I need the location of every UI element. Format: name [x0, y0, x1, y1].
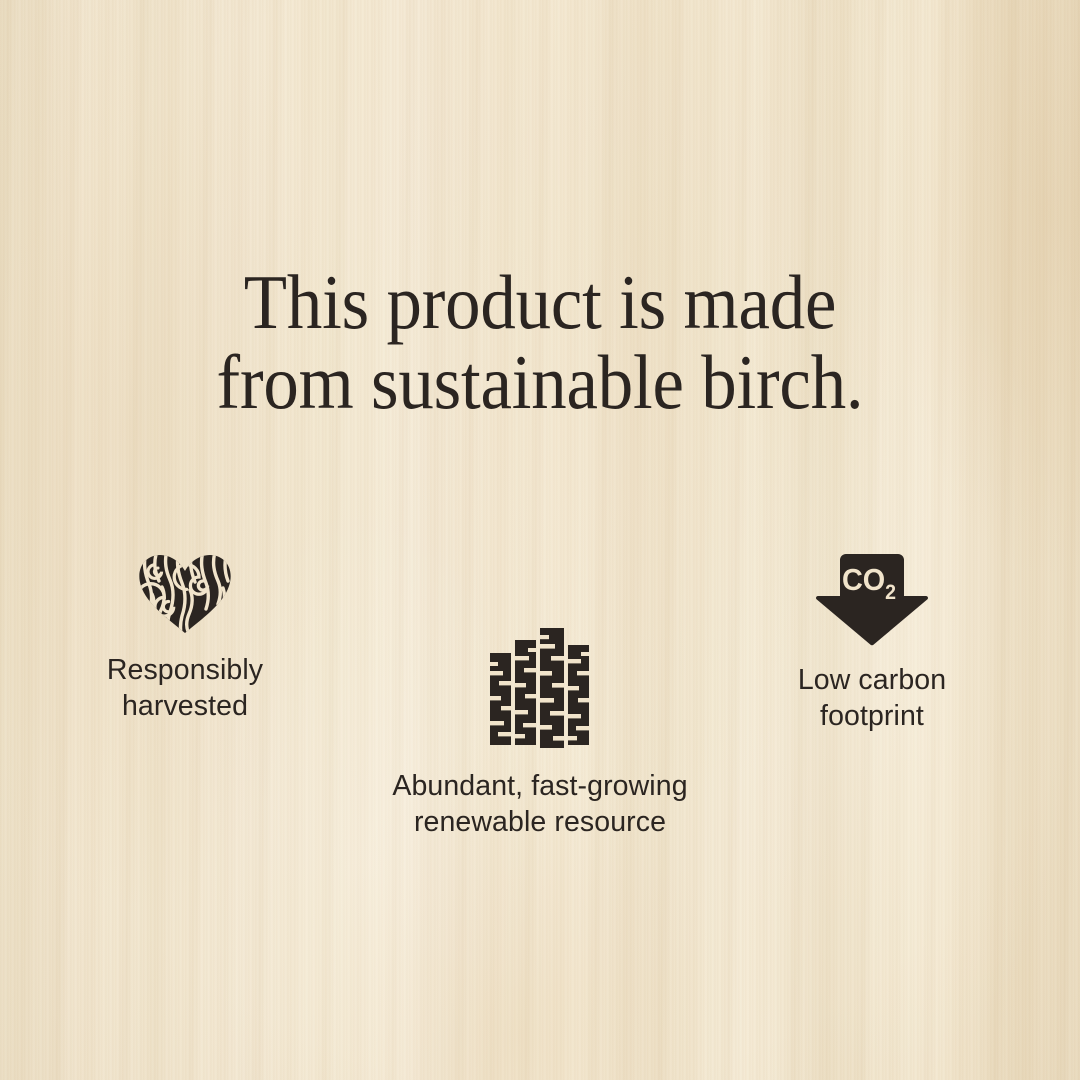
feature-renewable-resource: Abundant, fast-growing renewable resourc… [385, 626, 695, 840]
caption-line-2: harvested [35, 688, 335, 724]
background-vignette [0, 0, 1080, 1080]
wood-grain-heart-icon [137, 554, 233, 634]
feature-caption: Low carbon footprint [722, 662, 1022, 734]
headline-line-1: This product is made [43, 262, 1037, 342]
feature-caption: Abundant, fast-growing renewable resourc… [385, 768, 695, 840]
caption-line-2: footprint [722, 698, 1022, 734]
headline-line-2: from sustainable birch. [43, 342, 1037, 422]
caption-line-1: Abundant, fast-growing [385, 768, 695, 804]
wood-grain-heart-icon-wrap [35, 552, 335, 634]
poster-canvas: This product is made from sustainable bi… [0, 0, 1080, 1080]
feature-caption: Responsibly harvested [35, 652, 335, 724]
co2-down-arrow-icon-wrap: CO2 [722, 548, 1022, 648]
caption-line-1: Responsibly [35, 652, 335, 688]
birch-trunks-icon [488, 626, 592, 748]
feature-responsibly-harvested: Responsibly harvested [35, 552, 335, 724]
page-title: This product is made from sustainable bi… [43, 262, 1037, 422]
co2-down-arrow-icon: CO2 [815, 548, 929, 648]
feature-low-carbon-footprint: CO2 Low carbon footprint [722, 548, 1022, 734]
caption-line-2: renewable resource [385, 804, 695, 840]
birch-trunks-icon-wrap [385, 626, 695, 748]
caption-line-1: Low carbon [722, 662, 1022, 698]
